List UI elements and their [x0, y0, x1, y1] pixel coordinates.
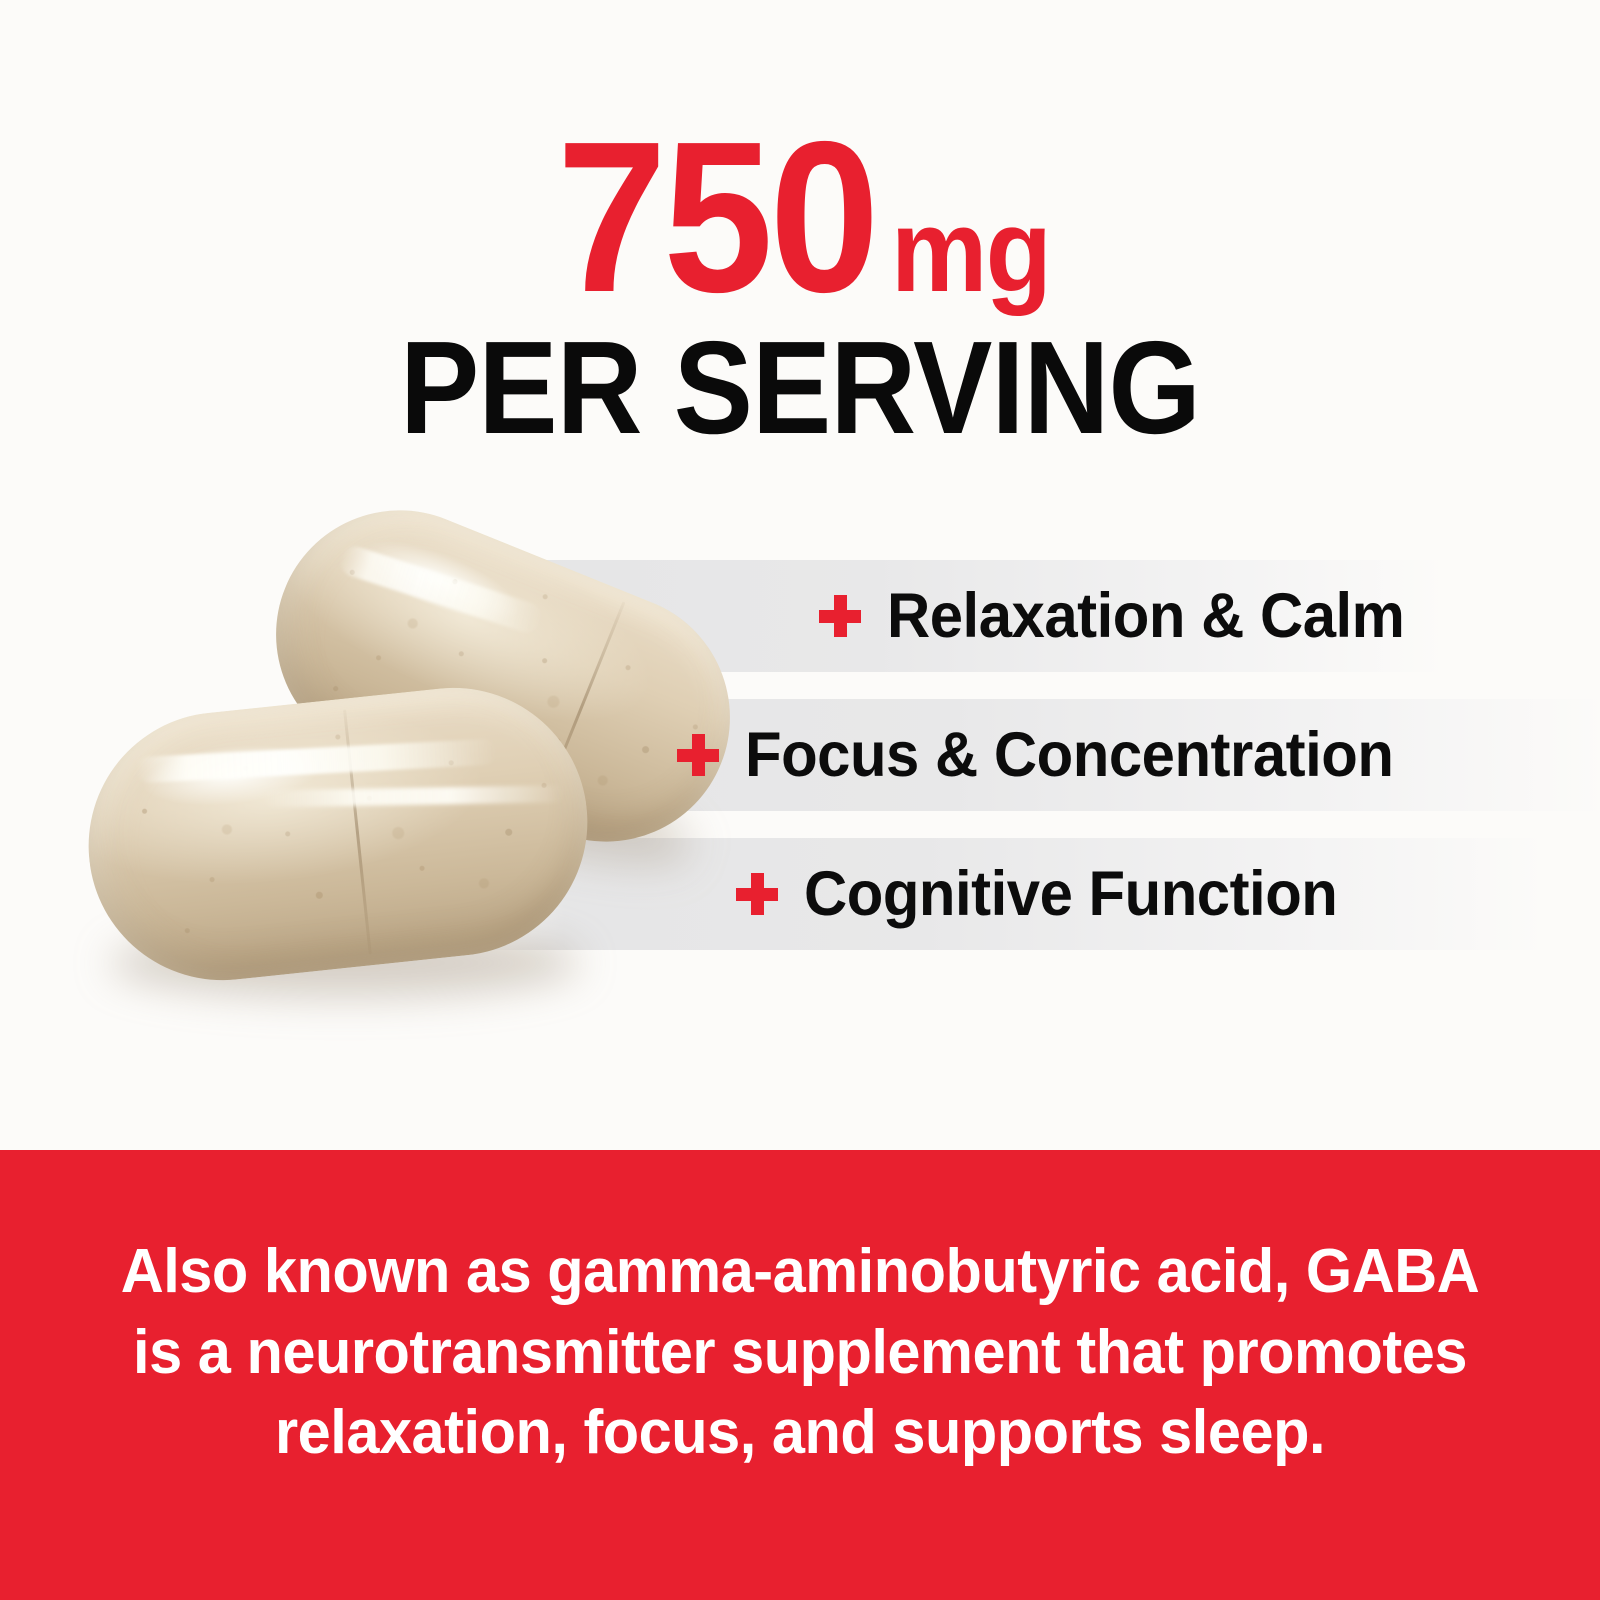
benefit-row: Relaxation & Calm [0, 560, 1600, 672]
footer-band: Also known as gamma-aminobutyric acid, G… [0, 1150, 1600, 1600]
plus-icon [736, 873, 778, 915]
headline-block: 750mg PER SERVING [0, 118, 1600, 454]
benefit-label: Cognitive Function [804, 863, 1337, 926]
product-description: Also known as gamma-aminobutyric acid, G… [32, 1232, 1568, 1474]
benefit-label: Focus & Concentration [745, 724, 1393, 787]
plus-icon [677, 734, 719, 776]
benefit-label: Relaxation & Calm [887, 585, 1404, 648]
plus-icon [819, 595, 861, 637]
dosage-amount: 750 [557, 118, 876, 316]
per-serving-label: PER SERVING [80, 322, 1520, 454]
supplement-infographic: 750mg PER SERVING Relaxation & Calm [0, 0, 1600, 1600]
dosage-line: 750mg [0, 118, 1600, 316]
dosage-unit: mg [891, 197, 1050, 306]
